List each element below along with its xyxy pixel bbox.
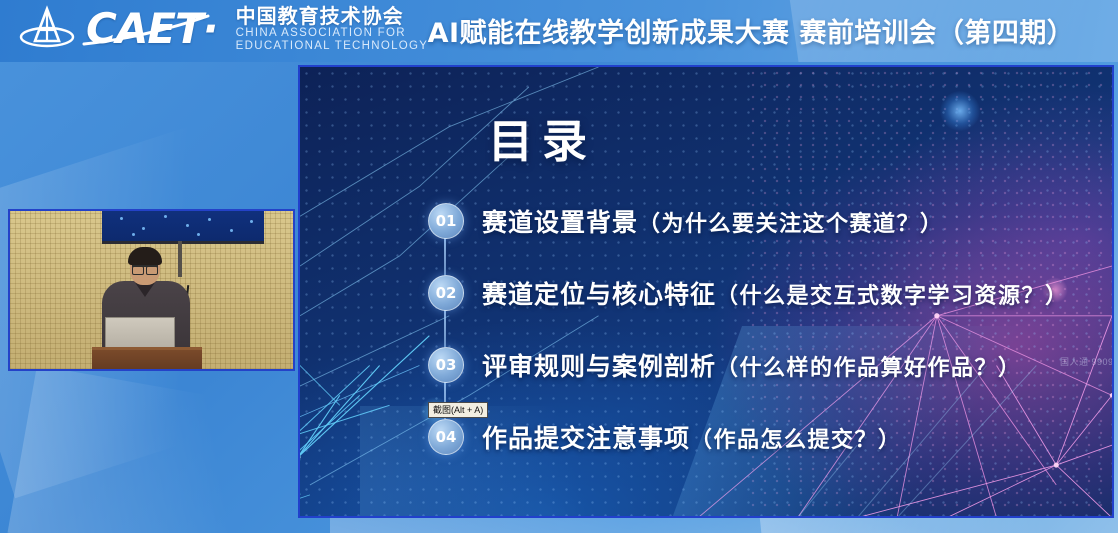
toc-question: （什么样的作品算好作品？） xyxy=(716,356,1022,381)
screenshot-shortcut-tooltip: 截图(Alt + A) xyxy=(428,402,488,418)
toc-number-badge: 03 xyxy=(428,347,464,383)
toc-text: 作品提交注意事项（作品怎么提交？） xyxy=(482,419,902,455)
toc-number-badge: 04 xyxy=(428,419,464,455)
table-of-contents: 01 赛道设置背景（为什么要关注这个赛道？） 02 赛道定位与核心特征（什么是交… xyxy=(428,185,1108,473)
toc-number-badge: 02 xyxy=(428,275,464,311)
podium xyxy=(92,347,202,371)
header-bar: CAET· 中国教育技术协会 CHINA ASSOCIATION FOR EDU… xyxy=(0,0,1118,62)
screen-pole xyxy=(178,241,182,277)
toc-item[interactable]: 04 作品提交注意事项（作品怎么提交？） xyxy=(428,401,1108,473)
stage-screen xyxy=(102,211,264,244)
toc-item[interactable]: 01 赛道设置背景（为什么要关注这个赛道？） xyxy=(428,185,1108,257)
toc-item[interactable]: 03 评审规则与案例剖析（什么样的作品算好作品？） xyxy=(428,329,1108,401)
toc-heading: 作品提交注意事项 xyxy=(482,424,690,453)
screen-root: CAET· 中国教育技术协会 CHINA ASSOCIATION FOR EDU… xyxy=(0,0,1118,533)
caet-pyramid-logo-icon xyxy=(18,4,76,54)
brand-acronym-dot: · xyxy=(203,4,218,53)
toc-item[interactable]: 02 赛道定位与核心特征（什么是交互式数字学习资源？） xyxy=(428,257,1108,329)
toc-text: 赛道定位与核心特征（什么是交互式数字学习资源？） xyxy=(482,275,1069,311)
toc-text: 赛道设置背景（为什么要关注这个赛道？） xyxy=(482,203,944,239)
toc-question: （为什么要关注这个赛道？） xyxy=(638,212,944,237)
laptop-icon xyxy=(105,317,175,349)
toc-question: （作品怎么提交？） xyxy=(690,428,902,453)
page-title: AI赋能在线教学创新成果大赛 赛前培训会（第四期） xyxy=(395,6,1107,54)
toc-heading: 赛道定位与核心特征 xyxy=(482,280,716,309)
presentation-slide[interactable]: 目录 01 赛道设置背景（为什么要关注这个赛道？） 02 赛道定位与核心特征（什… xyxy=(298,65,1114,518)
brand-lockup: CAET· 中国教育技术协会 CHINA ASSOCIATION FOR EDU… xyxy=(18,4,428,54)
toc-heading: 评审规则与案例剖析 xyxy=(482,352,716,381)
toc-question: （什么是交互式数字学习资源？） xyxy=(716,284,1069,309)
toc-text: 评审规则与案例剖析（什么样的作品算好作品？） xyxy=(482,347,1022,383)
background-sheen-2 xyxy=(8,365,333,533)
speaker-hair xyxy=(128,247,162,265)
slide-title: 目录 xyxy=(488,105,596,170)
toc-number-badge: 01 xyxy=(428,203,464,239)
toc-heading: 赛道设置背景 xyxy=(482,208,638,237)
glasses-icon xyxy=(132,265,158,273)
brand-acronym: CAET· xyxy=(86,8,218,50)
speaker-video-thumbnail[interactable] xyxy=(8,209,295,371)
